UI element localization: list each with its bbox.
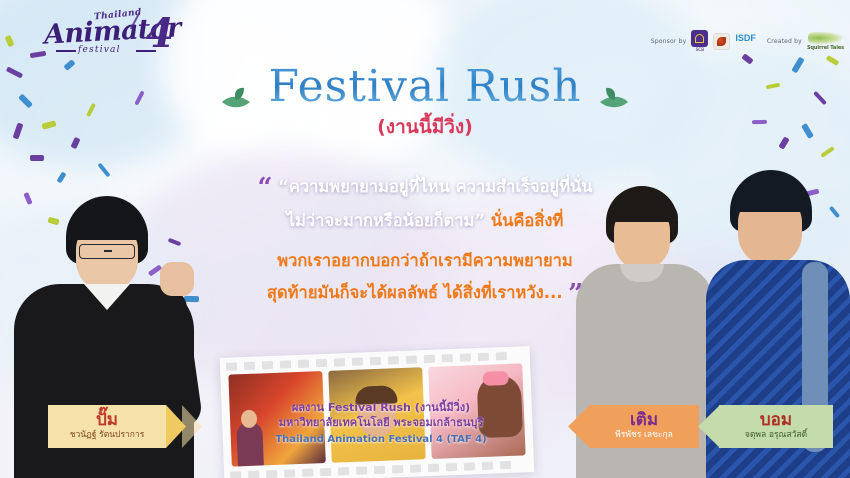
sponsor-bar: Sponsor by SCB ISDF Created by Squirrel …	[651, 30, 844, 53]
nametag-pum-nickname: ปั๊ม	[96, 412, 118, 430]
nametag-bom[interactable]: บอม จตุพล อรุณสวัสดิ์	[719, 405, 833, 448]
creator-logo-squirrel-tales: Squirrel Tales	[807, 32, 844, 51]
perforation	[424, 354, 435, 362]
perforation	[478, 352, 489, 360]
quote-line-1-text: “ความพยายามอยู่ที่ไหน ความสำเร็จอยู่ที่น…	[278, 177, 593, 196]
isdf-text: ISDF	[735, 33, 756, 43]
title-thai-subtitle: (งานนี้มีวิ่ง)	[0, 112, 850, 142]
leaf-right-icon	[596, 86, 630, 112]
sponsor-logo-scb: SCB	[691, 30, 708, 53]
nametag-bom-fullname: จตุพล อรุณสวัสดิ์	[745, 430, 807, 441]
confetti-piece	[30, 155, 44, 161]
isdf-caption	[745, 44, 746, 49]
perforation	[230, 471, 241, 478]
perforation	[482, 461, 493, 469]
perforation	[496, 351, 507, 359]
taf-logo: Thailand Animator 4 festival	[36, 8, 186, 60]
sponsor-by-label: Sponsor by	[651, 38, 687, 45]
perforation	[406, 355, 417, 363]
work-caption: ผลงาน Festival Rush (งานนี้มีวิ่ง) มหาวิ…	[250, 400, 512, 447]
perforation	[460, 353, 471, 361]
perforation	[446, 462, 457, 470]
perforation	[226, 362, 237, 370]
caption-line-1: ผลงาน Festival Rush (งานนี้มีวิ่ง)	[250, 400, 512, 415]
sponsor-logo-isdf: ISDF	[735, 34, 756, 50]
nametag-term-nickname: เติม	[630, 412, 658, 430]
nametag-term[interactable]: เติม พีรพัชร เลขะกุล	[589, 405, 699, 448]
confetti-piece	[5, 35, 15, 47]
perforation	[370, 356, 381, 364]
nametag-term-fullname: พีรพัชร เลขะกุล	[615, 430, 673, 441]
quote-line-4: สุดท้ายมันก็จะได้ผลลัพธ์ ได้สิ่งที่เราหว…	[0, 274, 850, 314]
perforation	[356, 466, 367, 474]
confetti-piece	[741, 53, 753, 64]
perforation	[316, 358, 327, 366]
confetti-piece	[820, 146, 835, 158]
perforation	[442, 354, 453, 362]
perforation	[284, 469, 295, 477]
perforation	[500, 460, 511, 468]
quote-line-2: ไม่ว่าจะมากหรือน้อยก็ตาม” นั่นคือสิ่งที่	[0, 208, 850, 234]
logo-festival-text: festival	[78, 45, 121, 55]
perforation	[266, 469, 277, 477]
quote-line-2-text: ไม่ว่าจะมากหรือน้อยก็ตาม”	[287, 211, 486, 230]
perforation	[244, 361, 255, 369]
perforation	[334, 358, 345, 366]
squirrel-tales-caption: Squirrel Tales	[807, 45, 844, 51]
quote-block: “ “ความพยายามอยู่ที่ไหน ความสำเร็จอยู่ที…	[0, 168, 850, 314]
scb-caption: SCB	[696, 48, 705, 53]
perforation	[374, 465, 385, 473]
quote-line-3: พวกเราอยากบอกว่าถ้าเรามีความพยายาม	[0, 248, 850, 274]
scb-icon	[691, 30, 708, 47]
perforation	[338, 467, 349, 475]
created-by-label: Created by	[767, 38, 802, 45]
perforation	[298, 359, 309, 367]
page-title: Festival Rush	[268, 64, 581, 110]
perforation	[388, 356, 399, 364]
caption-line-3: Thailand Animation Festival 4 (TAF 4)	[250, 433, 512, 447]
perforation	[392, 465, 403, 473]
caption-line-2: มหาวิทยาลัยเทคโนโลยี พระจอมเกล้าธนบุรี	[250, 415, 512, 430]
nametag-pum-fullname: ชวนัฏฐ์ รัตนปราการ	[70, 430, 145, 441]
perforation	[302, 468, 313, 476]
mahidol-icon	[713, 33, 730, 50]
sponsor-logo-mahidol	[713, 33, 730, 51]
perforation	[262, 360, 273, 368]
quote-close-mark: ”	[568, 279, 583, 309]
title-block: Festival Rush (งานนี้มีวิ่ง)	[0, 64, 850, 142]
perforation	[280, 360, 291, 368]
perforation	[410, 464, 421, 472]
perforation	[248, 470, 259, 478]
nametag-pum[interactable]: ปั๊ม ชวนัฏฐ์ รัตนปราการ	[48, 405, 166, 448]
perforation	[428, 463, 439, 471]
perforation	[320, 467, 331, 475]
perforation	[352, 357, 363, 365]
quote-open-mark: “	[257, 173, 272, 203]
isdf-icon: ISDF	[735, 34, 756, 44]
quote-line-5-text: สุดท้ายมันก็จะได้ผลลัพธ์ ได้สิ่งที่เราหว…	[267, 283, 563, 302]
poster-canvas: Thailand Animator 4 festival Sponsor by …	[0, 0, 850, 478]
perforation	[464, 462, 475, 470]
nametag-bom-nickname: บอม	[760, 412, 792, 430]
quote-line-4-text: พวกเราอยากบอกว่าถ้าเรามีความพยายาม	[277, 251, 573, 270]
quote-line-3-text: นั่นคือสิ่งที่	[491, 211, 564, 230]
squirrel-tales-icon	[808, 32, 842, 44]
logo-rule-right	[136, 50, 156, 52]
quote-line-1: “ “ความพยายามอยู่ที่ไหน ความสำเร็จอยู่ที…	[0, 168, 850, 208]
leaf-left-icon	[220, 86, 254, 112]
frame3-bow-icon	[482, 371, 509, 386]
logo-rule-left	[56, 50, 76, 52]
